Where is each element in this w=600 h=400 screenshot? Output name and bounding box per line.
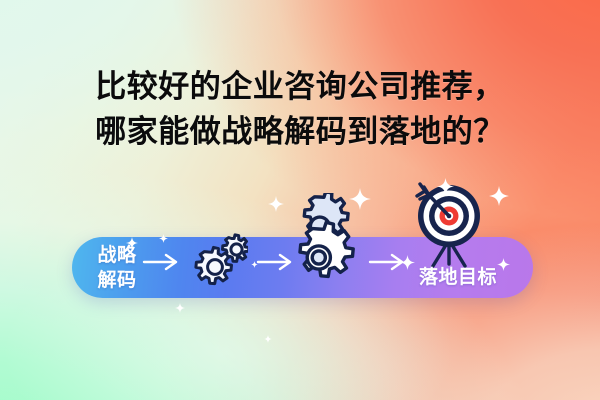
sparkle-icon <box>126 236 138 254</box>
headline-block: 比较好的企业咨询公司推荐， 哪家能做战略解码到落地的？ <box>0 64 600 154</box>
sparkle-icon <box>268 196 284 217</box>
pill-start-label: 战略 解码 <box>84 243 150 293</box>
sparkle-icon <box>400 255 415 275</box>
sparkle-icon <box>349 188 371 215</box>
gears-small-icon <box>186 230 248 291</box>
sparkle-icon <box>437 178 454 200</box>
sparkle-icon <box>159 230 168 248</box>
sparkle-icon <box>497 258 510 276</box>
sparkle-icon <box>175 300 185 318</box>
gears-large-icon <box>283 193 357 294</box>
headline-line-1: 比较好的企业咨询公司推荐， <box>0 64 600 109</box>
sparkle-icon <box>489 186 509 211</box>
sparkle-icon <box>264 330 272 348</box>
pill-start-label-line-1: 战略 <box>84 243 150 268</box>
sparkle-icon <box>251 255 258 273</box>
pill-start-label-line-2: 解码 <box>84 268 150 293</box>
poster-canvas: 比较好的企业咨询公司推荐， 哪家能做战略解码到落地的？ 战略 解码 落地目标 <box>0 0 600 400</box>
headline-line-2: 哪家能做战略解码到落地的？ <box>0 109 600 154</box>
